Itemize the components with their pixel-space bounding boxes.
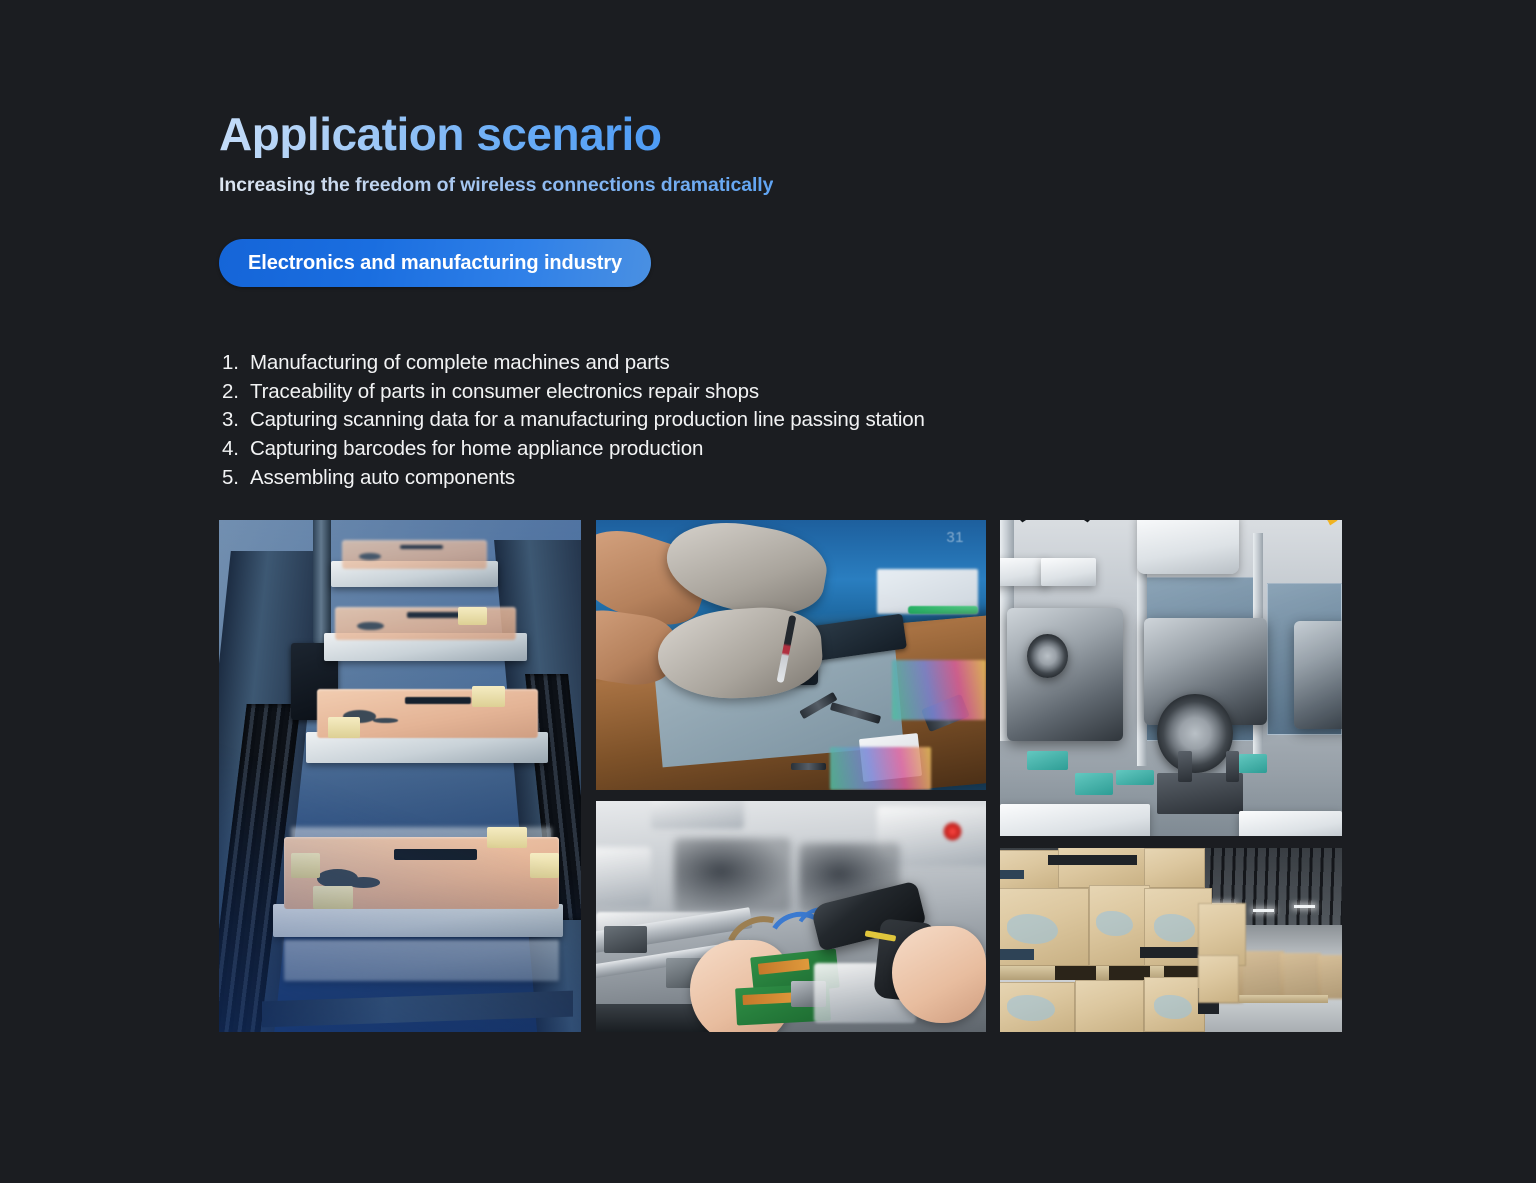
list-item: 3. Capturing scanning data for a manufac… [222, 406, 925, 435]
list-item-text: Manufacturing of complete machines and p… [250, 349, 670, 378]
application-scenario-slide: Application scenario Increasing the free… [0, 0, 1536, 1183]
photo-phone-repair-technician: 31 Gloved technician repairing a smartph… [596, 520, 986, 790]
photo-engine-assembly-line: Automotive engine assembly line station [1000, 520, 1342, 836]
list-item-text: Capturing scanning data for a manufactur… [250, 406, 925, 435]
list-item-number: 1. [222, 349, 250, 378]
list-item-number: 3. [222, 406, 250, 435]
page-title: Application scenario [219, 110, 661, 158]
page-subtitle: Increasing the freedom of wireless conne… [219, 174, 773, 197]
list-item: 1. Manufacturing of complete machines an… [222, 349, 925, 378]
photo-barcode-scanning-pcb: Handheld barcode scanner reading a circu… [596, 801, 986, 1032]
image-gallery: Electronics production line conveyor wit… [219, 520, 1343, 1032]
category-pill-label: Electronics and manufacturing industry [248, 252, 622, 275]
list-item-text: Traceability of parts in consumer electr… [250, 378, 759, 407]
category-pill-electronics-manufacturing[interactable]: Electronics and manufacturing industry [219, 239, 651, 287]
photo-production-line-conveyor: Electronics production line conveyor wit… [219, 520, 581, 1032]
list-item: 5. Assembling auto components [222, 464, 925, 493]
list-item-text: Capturing barcodes for home appliance pr… [250, 435, 703, 464]
photo-warehouse-cartons: Warehouse with palletized appliance cart… [1000, 848, 1342, 1032]
list-item: 2. Traceability of parts in consumer ele… [222, 378, 925, 407]
list-item-number: 4. [222, 435, 250, 464]
list-item-number: 5. [222, 464, 250, 493]
list-item-number: 2. [222, 378, 250, 407]
feature-list: 1. Manufacturing of complete machines an… [222, 349, 925, 493]
list-item-text: Assembling auto components [250, 464, 515, 493]
photo-watermark: 31 [946, 529, 964, 546]
list-item: 4. Capturing barcodes for home appliance… [222, 435, 925, 464]
